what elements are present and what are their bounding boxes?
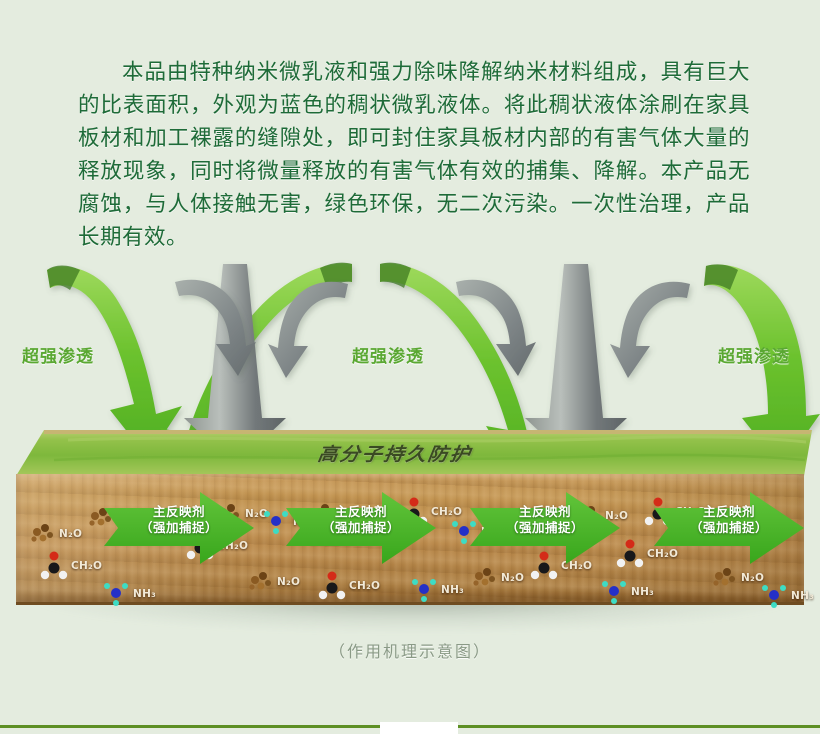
molecule-ch2o: CH₂O — [318, 570, 348, 606]
molecule-label: N₂O — [59, 528, 82, 540]
board-surface-label: 高分子持久防护 — [316, 439, 474, 466]
molecule-nh3: NH₃ — [410, 574, 440, 610]
diagram-caption: （作用机理示意图） — [0, 638, 820, 662]
molecule-nh3: NH₃ — [600, 576, 630, 612]
molecule-n2o: N₂O — [28, 518, 58, 554]
molecule-label: NH₃ — [133, 588, 156, 600]
molecule-label: NH₃ — [441, 584, 464, 596]
molecule-label: CH₂O — [349, 580, 380, 592]
mechanism-diagram: 超强渗透 超强渗透 超强渗透 — [0, 230, 820, 670]
molecule-label: N₂O — [501, 572, 524, 584]
molecule-n2o: N₂O — [246, 566, 276, 602]
penetration-label-1: 超强渗透 — [22, 342, 94, 367]
molecule-n2o: N₂O — [710, 562, 740, 598]
reagent-arrow-3: 主反映剂 （强加捕捉） — [470, 490, 620, 566]
molecule-label: NH₃ — [791, 590, 814, 602]
reagent-arrow-2: 主反映剂 （强加捕捉） — [286, 490, 436, 566]
reagent-arrow-1: 主反映剂 （强加捕捉） — [104, 490, 254, 566]
molecule-label: NH₃ — [631, 586, 654, 598]
bottom-divider-gap — [380, 722, 458, 734]
molecule-ch2o: CH₂O — [616, 538, 646, 574]
molecule-label: CH₂O — [71, 560, 102, 572]
page-root: 本品由特种纳米微乳液和强力除味降解纳米材料组成，具有巨大的比表面积，外观为蓝色的… — [0, 0, 820, 734]
molecule-label: N₂O — [277, 576, 300, 588]
molecule-ch2o: CH₂O — [40, 550, 70, 586]
wood-board: 高分子持久防护 N₂OCH₂ONH₃CH₂ON₂ONH₃N₂OCH₂ON₂OCH… — [8, 430, 812, 620]
intro-paragraph: 本品由特种纳米微乳液和强力除味降解纳米材料组成，具有巨大的比表面积，外观为蓝色的… — [78, 56, 750, 254]
molecule-nh3: NH₃ — [760, 580, 790, 616]
penetration-label-2: 超强渗透 — [352, 342, 424, 367]
molecule-n2o: N₂O — [470, 562, 500, 598]
penetration-label-3: 超强渗透 — [718, 342, 790, 367]
molecule-nh3: NH₃ — [102, 578, 132, 614]
reagent-arrow-4: 主反映剂 （强加捕捉） — [654, 490, 804, 566]
